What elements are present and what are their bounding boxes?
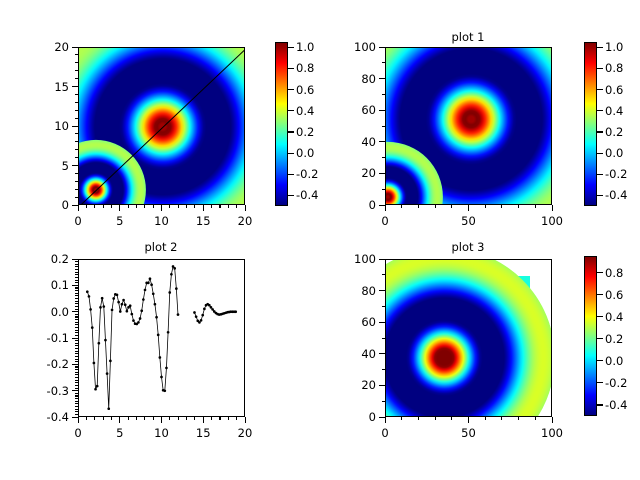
colorbar-tick-label: 0.0 bbox=[605, 354, 623, 368]
colorbar-tick-label: 1.0 bbox=[296, 40, 314, 54]
x-tick-major bbox=[78, 205, 79, 211]
x-tick-minor bbox=[219, 417, 220, 420]
y-tick-minor bbox=[75, 361, 78, 362]
field-patch bbox=[386, 48, 490, 205]
data-marker bbox=[210, 306, 213, 309]
x-tick-label: 0 bbox=[381, 214, 388, 228]
y-tick-label: -0.3 bbox=[36, 384, 69, 398]
x-tick-minor bbox=[211, 417, 212, 420]
data-marker bbox=[154, 303, 157, 306]
data-marker bbox=[150, 283, 153, 286]
y-tick-minor bbox=[75, 309, 78, 310]
y-tick-label: 20 bbox=[343, 378, 376, 392]
y-tick-label: 10 bbox=[36, 119, 69, 133]
wave-source bbox=[78, 140, 146, 205]
y-tick-minor bbox=[75, 293, 78, 294]
y-tick-major bbox=[379, 78, 385, 79]
colorbar-tick-label: -0.4 bbox=[296, 188, 318, 202]
colorbar-tick-label: -0.4 bbox=[605, 188, 627, 202]
y-tick-major bbox=[379, 385, 385, 386]
data-marker bbox=[116, 294, 119, 297]
data-marker bbox=[94, 388, 97, 391]
y-tick-label: 80 bbox=[343, 284, 376, 298]
colorbar-tick-label: 0.8 bbox=[605, 61, 623, 75]
x-tick-minor bbox=[178, 205, 179, 208]
y-tick-minor bbox=[75, 348, 78, 349]
y-tick-minor bbox=[75, 272, 78, 273]
colorbar-tick bbox=[597, 68, 603, 69]
y-tick-major bbox=[72, 417, 78, 418]
y-tick-minor bbox=[382, 401, 385, 402]
y-tick-minor bbox=[75, 141, 78, 142]
y-tick-major bbox=[72, 285, 78, 286]
y-tick-major bbox=[72, 165, 78, 166]
data-marker bbox=[107, 407, 110, 410]
y-tick-label: 80 bbox=[343, 72, 376, 86]
y-tick-minor bbox=[75, 359, 78, 360]
colorbar-tick-label: 0.6 bbox=[296, 83, 314, 97]
colorbar-tick bbox=[597, 89, 603, 90]
y-tick-minor bbox=[75, 261, 78, 262]
y-tick-minor bbox=[75, 102, 78, 103]
data-marker bbox=[195, 315, 198, 318]
x-tick-minor bbox=[501, 205, 502, 208]
x-tick-minor bbox=[518, 205, 519, 208]
y-tick-minor bbox=[75, 343, 78, 344]
x-tick-minor bbox=[228, 205, 229, 208]
plot-title-bottom-left: plot 2 bbox=[101, 240, 221, 254]
colorbar-tick bbox=[597, 316, 603, 317]
y-tick-minor bbox=[75, 351, 78, 352]
y-tick-minor bbox=[75, 274, 78, 275]
y-tick-minor bbox=[382, 126, 385, 127]
x-tick-minor bbox=[186, 417, 187, 420]
y-tick-major bbox=[379, 322, 385, 323]
y-tick-minor bbox=[75, 303, 78, 304]
x-tick-label: 10 bbox=[154, 214, 169, 228]
y-tick-minor bbox=[75, 197, 78, 198]
colorbar-tick bbox=[288, 195, 294, 196]
data-marker bbox=[93, 362, 96, 365]
x-tick-minor bbox=[128, 417, 129, 420]
colorbar-tick bbox=[597, 360, 603, 361]
y-tick-label: 100 bbox=[343, 252, 376, 266]
x-tick-minor bbox=[418, 205, 419, 208]
y-tick-minor bbox=[75, 322, 78, 323]
y-tick-major bbox=[72, 126, 78, 127]
x-tick-minor bbox=[194, 417, 195, 420]
x-tick-minor bbox=[136, 417, 137, 420]
x-tick-minor bbox=[169, 205, 170, 208]
x-tick-minor bbox=[219, 205, 220, 208]
x-tick-minor bbox=[535, 417, 536, 420]
data-marker bbox=[99, 306, 102, 309]
data-marker bbox=[139, 317, 142, 320]
data-marker bbox=[102, 305, 105, 308]
x-tick-minor bbox=[401, 417, 402, 420]
colorbar-tick bbox=[597, 294, 603, 295]
colorbar-tick bbox=[597, 174, 603, 175]
x-tick-minor bbox=[485, 205, 486, 208]
y-tick-major bbox=[379, 141, 385, 142]
y-tick-minor bbox=[75, 353, 78, 354]
y-tick-label: -0.2 bbox=[36, 357, 69, 371]
data-marker bbox=[203, 308, 206, 311]
y-tick-minor bbox=[75, 290, 78, 291]
x-tick-minor bbox=[103, 417, 104, 420]
x-tick-major bbox=[78, 417, 79, 423]
x-tick-minor bbox=[136, 205, 137, 208]
x-tick-major bbox=[119, 417, 120, 423]
data-marker bbox=[104, 339, 107, 342]
x-tick-minor bbox=[86, 417, 87, 420]
x-tick-label: 20 bbox=[238, 426, 253, 440]
y-tick-minor bbox=[75, 366, 78, 367]
y-tick-label: 0.1 bbox=[36, 278, 69, 292]
x-tick-major bbox=[203, 205, 204, 211]
data-marker bbox=[157, 334, 160, 337]
y-tick-minor bbox=[75, 269, 78, 270]
y-tick-minor bbox=[75, 319, 78, 320]
x-tick-minor bbox=[535, 205, 536, 208]
data-marker bbox=[201, 314, 204, 317]
y-tick-minor bbox=[382, 369, 385, 370]
colorbar-tick-label: 0.6 bbox=[605, 288, 623, 302]
data-marker bbox=[106, 372, 109, 375]
y-tick-major bbox=[72, 338, 78, 339]
y-tick-minor bbox=[75, 298, 78, 299]
x-tick-minor bbox=[451, 205, 452, 208]
y-tick-minor bbox=[382, 306, 385, 307]
x-tick-minor bbox=[211, 205, 212, 208]
x-tick-major bbox=[385, 205, 386, 211]
y-tick-minor bbox=[75, 332, 78, 333]
line-series-group bbox=[79, 260, 244, 416]
field-patch bbox=[196, 56, 238, 205]
data-marker bbox=[200, 319, 203, 322]
y-tick-major bbox=[379, 417, 385, 418]
x-tick-label: 10 bbox=[154, 426, 169, 440]
y-tick-major bbox=[72, 364, 78, 365]
data-marker bbox=[155, 316, 158, 319]
data-marker bbox=[170, 273, 173, 276]
x-tick-minor bbox=[178, 417, 179, 420]
colorbar-top-left bbox=[275, 42, 288, 206]
y-tick-minor bbox=[75, 335, 78, 336]
x-tick-major bbox=[161, 205, 162, 211]
data-marker bbox=[101, 297, 104, 300]
x-tick-minor bbox=[236, 205, 237, 208]
y-tick-label: 60 bbox=[343, 103, 376, 117]
x-tick-major bbox=[245, 205, 246, 211]
y-tick-minor bbox=[75, 78, 78, 79]
y-tick-minor bbox=[75, 280, 78, 281]
y-tick-minor bbox=[75, 409, 78, 410]
x-tick-minor bbox=[153, 205, 154, 208]
y-tick-minor bbox=[75, 395, 78, 396]
y-tick-minor bbox=[75, 377, 78, 378]
axes-bottom-left bbox=[78, 259, 245, 417]
x-tick-label: 15 bbox=[196, 426, 211, 440]
data-marker bbox=[149, 277, 152, 280]
y-tick-major bbox=[379, 47, 385, 48]
colorbar-tick bbox=[288, 110, 294, 111]
x-tick-minor bbox=[236, 417, 237, 420]
x-tick-minor bbox=[501, 417, 502, 420]
colorbar-tick-label: 0.6 bbox=[605, 83, 623, 97]
y-tick-minor bbox=[382, 157, 385, 158]
y-tick-minor bbox=[75, 403, 78, 404]
colorbar-tick bbox=[288, 131, 294, 132]
x-tick-minor bbox=[418, 417, 419, 420]
y-tick-minor bbox=[75, 327, 78, 328]
x-tick-minor bbox=[435, 205, 436, 208]
colorbar-tick-label: 0.2 bbox=[605, 125, 623, 139]
colorbar-tick bbox=[288, 174, 294, 175]
x-tick-label: 50 bbox=[461, 214, 476, 228]
colorbar-tick-label: -0.2 bbox=[605, 167, 627, 181]
y-tick-label: 0 bbox=[343, 410, 376, 424]
y-tick-label: 60 bbox=[343, 315, 376, 329]
y-tick-label: 40 bbox=[343, 135, 376, 149]
colorbar-top-right bbox=[584, 42, 597, 206]
colorbar-tick bbox=[597, 338, 603, 339]
y-tick-minor bbox=[75, 316, 78, 317]
field-patch bbox=[513, 48, 552, 205]
x-tick-minor bbox=[103, 205, 104, 208]
colorbar-tick bbox=[597, 404, 603, 405]
data-marker bbox=[152, 292, 155, 295]
colorbar-tick-label: 0.0 bbox=[605, 146, 623, 160]
y-tick-minor bbox=[75, 173, 78, 174]
y-tick-major bbox=[72, 86, 78, 87]
x-tick-major bbox=[385, 417, 386, 423]
data-marker bbox=[163, 389, 166, 392]
figure-canvas: 05101520051015201.00.80.60.40.20.0-0.2-0… bbox=[0, 0, 640, 480]
line-path bbox=[87, 266, 178, 408]
data-marker bbox=[86, 290, 89, 293]
y-tick-label: 20 bbox=[343, 166, 376, 180]
data-marker bbox=[129, 304, 132, 307]
y-tick-minor bbox=[75, 266, 78, 267]
axes-top-right bbox=[385, 47, 552, 205]
y-tick-minor bbox=[75, 356, 78, 357]
x-tick-minor bbox=[194, 205, 195, 208]
data-marker bbox=[168, 291, 171, 294]
data-marker bbox=[132, 319, 135, 322]
data-marker bbox=[208, 304, 211, 307]
x-tick-major bbox=[161, 417, 162, 423]
colorbar-tick-label: 0.8 bbox=[296, 61, 314, 75]
y-tick-minor bbox=[75, 264, 78, 265]
data-marker bbox=[91, 326, 94, 329]
y-tick-minor bbox=[75, 345, 78, 346]
data-marker bbox=[167, 331, 170, 334]
y-tick-label: 0.0 bbox=[36, 305, 69, 319]
y-tick-major bbox=[72, 311, 78, 312]
data-marker bbox=[140, 309, 143, 312]
y-tick-minor bbox=[75, 406, 78, 407]
y-tick-major bbox=[379, 205, 385, 206]
y-tick-minor bbox=[75, 369, 78, 370]
x-tick-minor bbox=[94, 417, 95, 420]
colorbar-tick-label: 1.0 bbox=[605, 40, 623, 54]
data-marker bbox=[173, 267, 176, 270]
y-tick-major bbox=[379, 353, 385, 354]
x-tick-label: 50 bbox=[461, 426, 476, 440]
x-tick-label: 15 bbox=[196, 214, 211, 228]
data-marker bbox=[126, 310, 129, 313]
x-tick-minor bbox=[186, 205, 187, 208]
data-marker bbox=[198, 321, 201, 324]
data-marker bbox=[175, 287, 178, 290]
y-tick-label: 0 bbox=[343, 198, 376, 212]
y-tick-minor bbox=[382, 338, 385, 339]
y-tick-minor bbox=[75, 94, 78, 95]
y-tick-minor bbox=[75, 295, 78, 296]
y-tick-minor bbox=[75, 414, 78, 415]
y-tick-major bbox=[379, 290, 385, 291]
y-tick-minor bbox=[75, 133, 78, 134]
x-tick-label: 0 bbox=[381, 426, 388, 440]
y-tick-minor bbox=[75, 118, 78, 119]
data-marker bbox=[98, 342, 101, 345]
colorbar-tick-label: 0.8 bbox=[605, 266, 623, 280]
plot-title-bottom-right: plot 3 bbox=[408, 240, 528, 254]
data-marker bbox=[122, 299, 125, 302]
colorbar-tick bbox=[597, 47, 603, 48]
y-tick-minor bbox=[75, 374, 78, 375]
y-tick-minor bbox=[75, 340, 78, 341]
data-marker bbox=[111, 309, 114, 312]
x-tick-label: 100 bbox=[541, 426, 563, 440]
colorbar-tick bbox=[597, 131, 603, 132]
colorbar-bottom-right bbox=[584, 256, 597, 416]
x-tick-major bbox=[245, 417, 246, 423]
data-marker bbox=[144, 289, 147, 292]
x-tick-minor bbox=[86, 205, 87, 208]
y-tick-minor bbox=[75, 149, 78, 150]
field-patch bbox=[79, 56, 179, 205]
x-tick-minor bbox=[228, 417, 229, 420]
field-patch bbox=[478, 276, 530, 417]
colorbar-tick bbox=[597, 272, 603, 273]
plot-title-top-right: plot 1 bbox=[408, 30, 528, 44]
y-tick-minor bbox=[75, 157, 78, 158]
x-tick-minor bbox=[111, 205, 112, 208]
y-tick-minor bbox=[75, 388, 78, 389]
x-tick-minor bbox=[153, 417, 154, 420]
data-marker bbox=[119, 310, 122, 313]
x-tick-major bbox=[552, 417, 553, 423]
y-tick-minor bbox=[75, 306, 78, 307]
colorbar-tick-label: 0.4 bbox=[605, 310, 623, 324]
y-tick-minor bbox=[75, 372, 78, 373]
y-tick-minor bbox=[75, 277, 78, 278]
y-tick-minor bbox=[382, 94, 385, 95]
y-tick-minor bbox=[75, 301, 78, 302]
y-tick-label: 40 bbox=[343, 347, 376, 361]
colorbar-tick-label: 0.4 bbox=[605, 104, 623, 118]
y-tick-minor bbox=[382, 189, 385, 190]
y-tick-minor bbox=[75, 70, 78, 71]
y-tick-minor bbox=[75, 401, 78, 402]
y-tick-label: 20 bbox=[36, 40, 69, 54]
colorbar-tick-label: -0.4 bbox=[605, 398, 627, 412]
colorbar-tick bbox=[288, 68, 294, 69]
colorbar-tick-label: 0.0 bbox=[296, 146, 314, 160]
data-marker bbox=[109, 360, 112, 363]
y-tick-label: -0.1 bbox=[36, 331, 69, 345]
y-tick-major bbox=[72, 390, 78, 391]
y-tick-minor bbox=[75, 62, 78, 63]
x-tick-minor bbox=[144, 417, 145, 420]
data-marker bbox=[160, 376, 163, 379]
axes-bottom-right bbox=[385, 259, 552, 417]
colorbar-tick bbox=[597, 382, 603, 383]
y-tick-minor bbox=[75, 324, 78, 325]
y-tick-label: -0.4 bbox=[36, 410, 69, 424]
data-marker bbox=[137, 321, 140, 324]
y-tick-major bbox=[72, 205, 78, 206]
x-tick-label: 100 bbox=[541, 214, 563, 228]
y-tick-label: 5 bbox=[36, 159, 69, 173]
colorbar-tick-label: 0.2 bbox=[296, 125, 314, 139]
x-tick-minor bbox=[451, 417, 452, 420]
y-tick-minor bbox=[75, 282, 78, 283]
x-tick-minor bbox=[401, 205, 402, 208]
y-tick-minor bbox=[75, 398, 78, 399]
y-tick-minor bbox=[75, 287, 78, 288]
y-tick-minor bbox=[75, 382, 78, 383]
x-tick-minor bbox=[485, 417, 486, 420]
colorbar-tick bbox=[288, 47, 294, 48]
field-patch bbox=[386, 276, 463, 417]
y-tick-minor bbox=[75, 110, 78, 111]
x-tick-major bbox=[203, 417, 204, 423]
y-tick-minor bbox=[382, 62, 385, 63]
y-tick-label: 0 bbox=[36, 198, 69, 212]
y-tick-label: 0.2 bbox=[36, 252, 69, 266]
y-tick-minor bbox=[75, 393, 78, 394]
y-tick-major bbox=[72, 259, 78, 260]
y-tick-label: 15 bbox=[36, 80, 69, 94]
colorbar-tick bbox=[597, 153, 603, 154]
y-tick-minor bbox=[75, 380, 78, 381]
x-tick-label: 0 bbox=[74, 426, 81, 440]
data-marker bbox=[89, 308, 92, 311]
data-marker bbox=[177, 313, 180, 316]
x-tick-major bbox=[552, 205, 553, 211]
x-tick-major bbox=[468, 417, 469, 423]
x-tick-minor bbox=[518, 417, 519, 420]
data-marker bbox=[88, 295, 91, 298]
colorbar-tick bbox=[597, 110, 603, 111]
y-tick-label: 100 bbox=[343, 40, 376, 54]
data-marker bbox=[234, 310, 237, 313]
data-marker bbox=[117, 301, 120, 304]
axes-top-left bbox=[78, 47, 245, 205]
x-tick-label: 5 bbox=[116, 426, 123, 440]
colorbar-tick bbox=[597, 195, 603, 196]
y-tick-major bbox=[379, 173, 385, 174]
colorbar-tick-label: -0.2 bbox=[296, 167, 318, 181]
y-tick-minor bbox=[75, 181, 78, 182]
data-marker bbox=[159, 356, 162, 359]
data-marker bbox=[124, 303, 127, 306]
y-tick-minor bbox=[75, 314, 78, 315]
x-tick-minor bbox=[435, 417, 436, 420]
